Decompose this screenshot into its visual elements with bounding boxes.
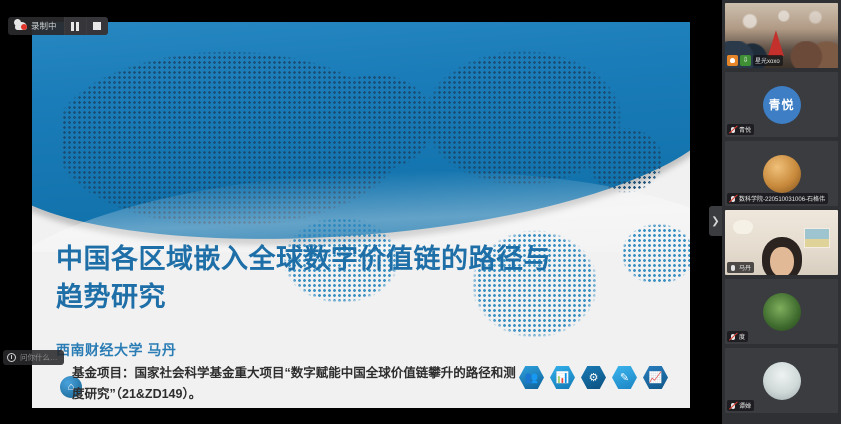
recording-status: 录制中 <box>8 17 64 35</box>
screen-share-icon <box>727 55 738 66</box>
participant-tile[interactable]: 度 <box>725 279 838 344</box>
avatar: 青悦 <box>763 86 801 124</box>
participant-panel[interactable]: ⇩ 星光xoxo 青悦 青悦 数科学院-220510031006-石格伟 <box>722 0 841 424</box>
clock-icon <box>7 353 16 362</box>
recording-indicator[interactable]: 录制中 <box>8 17 108 35</box>
presentation-slide[interactable]: 中国各区域嵌入全球数字价值链的路径与趋势研究 西南财经大学 马丹 ⌂ 基金项目：… <box>32 22 690 408</box>
participant-name: 星光xoxo <box>755 56 780 65</box>
trend-chart-icon: 📈 <box>643 365 668 390</box>
avatar <box>763 293 801 331</box>
slide-title: 中国各区域嵌入全球数字价值链的路径与趋势研究 <box>56 240 576 317</box>
bar-chart-icon: 📊 <box>550 365 575 390</box>
slide-icon-strip: 👥 📊 ⚙ ✎ 📈 <box>519 365 668 390</box>
mic-muted-icon <box>729 125 737 134</box>
video-person-face <box>770 247 794 275</box>
mic-muted-icon <box>729 194 737 203</box>
download-icon: ⇩ <box>740 55 751 66</box>
avatar <box>763 362 801 400</box>
collapse-panel-handle[interactable]: ❯ <box>709 206 722 236</box>
slide-funding-note: 基金项目：国家社会科学基金重大项目“数字赋能中国全球价值链攀升的路径和测度研究”… <box>72 363 522 404</box>
participant-tile[interactable]: 马丹 <box>725 210 838 275</box>
question-pill-label: 问你什么… <box>20 352 58 363</box>
video-wall-art <box>804 228 830 248</box>
participant-name-chip: 度 <box>727 331 748 342</box>
target-gear-icon: ⚙ <box>581 365 606 390</box>
participant-name: 度 <box>739 332 745 341</box>
pause-icon <box>71 22 79 31</box>
meeting-window: 中国各区域嵌入全球数字价值链的路径与趋势研究 西南财经大学 马丹 ⌂ 基金项目：… <box>0 0 841 424</box>
participant-name-chip: 谭婵 <box>727 400 754 411</box>
shared-content-stage: 中国各区域嵌入全球数字价值链的路径与趋势研究 西南财经大学 马丹 ⌂ 基金项目：… <box>0 0 712 424</box>
cloud-record-icon <box>15 22 27 30</box>
participant-name: 谭婵 <box>739 401 751 410</box>
mic-on-icon <box>729 263 737 272</box>
participant-name: 青悦 <box>739 125 751 134</box>
recording-label: 录制中 <box>31 20 57 32</box>
stop-icon <box>93 22 101 30</box>
participant-name-chip: 马丹 <box>727 262 754 273</box>
participant-tile[interactable]: ⇩ 星光xoxo <box>725 3 838 68</box>
question-pill[interactable]: 问你什么… <box>3 350 64 365</box>
participant-name: 马丹 <box>739 263 751 272</box>
participant-name: 数科学院-220510031006-石格伟 <box>739 194 825 203</box>
stop-recording-button[interactable] <box>86 17 108 35</box>
slide-author: 西南财经大学 马丹 <box>56 340 176 360</box>
participant-tile[interactable]: 青悦 青悦 <box>725 72 838 137</box>
participant-name-chip: 数科学院-220510031006-石格伟 <box>727 193 828 204</box>
video-lamp <box>733 220 753 234</box>
pause-recording-button[interactable] <box>64 17 86 35</box>
participant-name-chip: 星光xoxo <box>753 55 783 66</box>
avatar <box>763 155 801 193</box>
participant-name-chip: 青悦 <box>727 124 754 135</box>
document-edit-icon: ✎ <box>612 365 637 390</box>
mic-muted-icon <box>729 332 737 341</box>
participant-tile[interactable]: 数科学院-220510031006-石格伟 <box>725 141 838 206</box>
participant-tile[interactable]: 谭婵 <box>725 348 838 413</box>
mic-muted-icon <box>729 401 737 410</box>
people-icon: 👥 <box>519 365 544 390</box>
